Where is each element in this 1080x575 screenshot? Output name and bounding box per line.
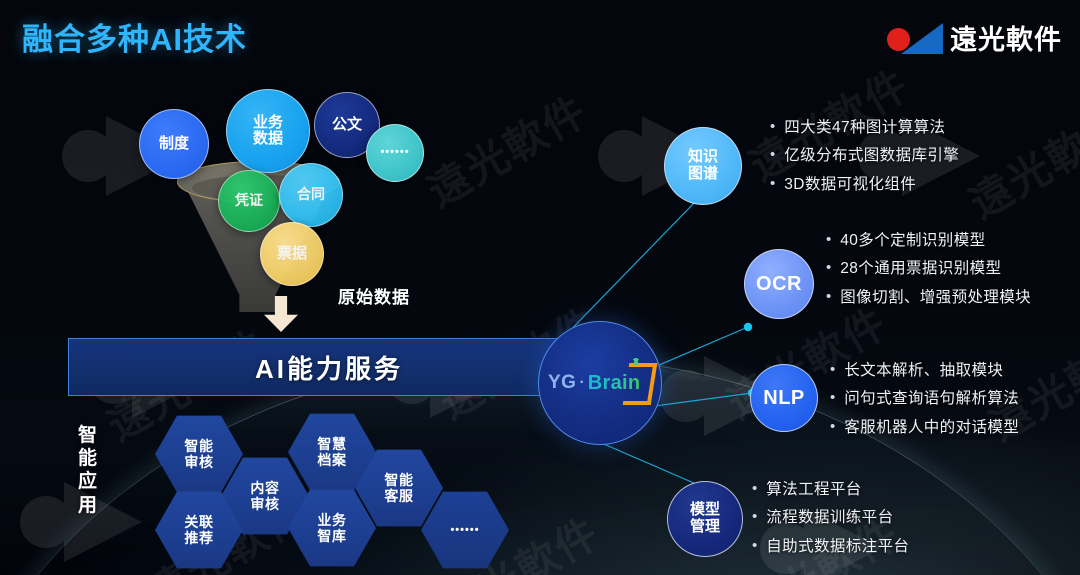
bullet-item: •问句式查询语句解析算法	[830, 389, 1080, 408]
bullet-dot-icon: •	[770, 146, 775, 165]
logo-circle-icon	[887, 28, 910, 51]
bullet-item: •图像切割、增强预处理模块	[826, 288, 1076, 307]
brand-name: 遠光軟件	[950, 18, 1062, 57]
source-bubble-yewushuju[interactable]: 业务 数据	[226, 89, 310, 173]
bullet-item: •四大类47种图计算算法	[770, 118, 1060, 137]
bullet-item: •客服机器人中的对话模型	[830, 418, 1080, 437]
bullet-dot-icon: •	[770, 118, 775, 137]
node-ocr[interactable]: OCR	[744, 249, 814, 319]
bullet-dot-icon: •	[752, 480, 757, 499]
source-bubble-more[interactable]: ••••••	[366, 124, 424, 182]
ai-capability-label: AI能力服务	[255, 349, 403, 386]
source-bubble-label: 合同	[297, 187, 325, 202]
source-bubble-label: 公文	[332, 117, 362, 133]
hex-label: 业务 智库	[317, 512, 346, 544]
smart-apps-hex-grid: 智能 审核 内容 审核 智慧 档案 业务 智库 智能 客服 关联 推荐 ••••…	[155, 412, 515, 567]
source-bubble-label: 制度	[159, 136, 189, 152]
yg-brain-bracket-icon	[623, 363, 658, 405]
hex-label: 智能 客服	[384, 472, 413, 504]
yg-brain-hub[interactable]: YG · Brain	[538, 321, 662, 445]
source-bubble-label: 凭证	[235, 193, 263, 208]
yg-brain-logo: YG · Brain	[548, 366, 652, 400]
source-bubble-label: 业务 数据	[253, 115, 283, 147]
hex-label: 内容 审核	[250, 480, 279, 512]
bullet-text: 客服机器人中的对话模型	[844, 418, 1019, 437]
source-bubble-zhidu[interactable]: 制度	[139, 109, 209, 179]
bullet-item: •自助式数据标注平台	[752, 537, 1012, 556]
raw-data-label: 原始数据	[338, 283, 410, 308]
bullet-item: •亿级分布式图数据库引擎	[770, 146, 1060, 165]
bullet-text: 40多个定制识别模型	[840, 231, 985, 250]
node-model-management[interactable]: 模型 管理	[667, 481, 743, 557]
yuanguang-logo-icon	[887, 21, 943, 55]
bullet-dot-icon: •	[826, 288, 831, 307]
bullet-text: 28个通用票据识别模型	[840, 259, 1001, 278]
hex-label: 智能 审核	[184, 438, 213, 470]
source-bubble-piaoju[interactable]: 票据	[260, 222, 324, 286]
bullet-item: •算法工程平台	[752, 480, 1012, 499]
node-knowledge-graph[interactable]: 知识 图谱	[664, 127, 742, 205]
hex-label: 关联 推荐	[184, 514, 213, 546]
bullet-text: 流程数据训练平台	[766, 508, 893, 527]
slide-canvas: 遠光軟件 遠光軟件 遠光軟件 遠光軟件 遠光軟件 遠光軟件 遠光軟件 遠光軟件 …	[0, 0, 1080, 575]
bullet-item: •3D数据可视化组件	[770, 175, 1060, 194]
bullet-text: 算法工程平台	[766, 480, 861, 499]
source-bubble-hetong[interactable]: 合同	[279, 163, 343, 227]
bullet-dot-icon: •	[826, 259, 831, 278]
node-label: 模型 管理	[690, 502, 720, 536]
yg-brain-separator: ·	[579, 374, 584, 392]
node-label: 知识 图谱	[688, 149, 718, 183]
yg-brain-yg-text: YG	[548, 372, 576, 394]
bullet-dot-icon: •	[830, 418, 835, 437]
bullet-text: 3D数据可视化组件	[784, 175, 916, 194]
bullet-dot-icon: •	[752, 508, 757, 527]
bullet-item: •流程数据训练平台	[752, 508, 1012, 527]
hex-label: ••••••	[450, 524, 479, 537]
hex-label: 智慧 档案	[317, 436, 346, 468]
bullet-text: 自助式数据标注平台	[766, 537, 909, 556]
bullets-ocr: •40多个定制识别模型 •28个通用票据识别模型 •图像切割、增强预处理模块	[826, 231, 1076, 316]
source-bubble-label: ••••••	[380, 147, 409, 159]
bullet-text: 亿级分布式图数据库引擎	[784, 146, 959, 165]
bullet-dot-icon: •	[752, 537, 757, 556]
bullet-text: 图像切割、增强预处理模块	[840, 288, 1031, 307]
bullet-dot-icon: •	[830, 361, 835, 380]
bullets-nlp: •长文本解析、抽取模块 •问句式查询语句解析算法 •客服机器人中的对话模型	[830, 361, 1080, 446]
bullet-item: •40多个定制识别模型	[826, 231, 1076, 250]
bullet-text: 四大类47种图计算算法	[784, 118, 945, 137]
bullet-text: 长文本解析、抽取模块	[844, 361, 1003, 380]
source-bubble-pingzheng[interactable]: 凭证	[218, 170, 280, 232]
bullet-item: •长文本解析、抽取模块	[830, 361, 1080, 380]
bullet-dot-icon: •	[770, 175, 775, 194]
source-bubble-label: 票据	[277, 246, 307, 262]
ai-capability-bar[interactable]: AI能力服务	[68, 338, 590, 396]
bullet-dot-icon: •	[830, 389, 835, 408]
yg-brain-spark-icon	[630, 358, 642, 368]
bullet-text: 问句式查询语句解析算法	[844, 389, 1019, 408]
bullet-item: •28个通用票据识别模型	[826, 259, 1076, 278]
smart-apps-section-label: 智能应用	[78, 424, 104, 517]
node-label: NLP	[763, 387, 805, 409]
bullet-dot-icon: •	[826, 231, 831, 250]
node-label: OCR	[756, 273, 802, 295]
page-title: 融合多种AI技术	[22, 14, 247, 59]
bullets-knowledge-graph: •四大类47种图计算算法 •亿级分布式图数据库引擎 •3D数据可视化组件	[770, 118, 1060, 203]
bullets-model-management: •算法工程平台 •流程数据训练平台 •自助式数据标注平台	[752, 480, 1012, 565]
node-nlp[interactable]: NLP	[750, 364, 818, 432]
brand-logo: 遠光軟件	[887, 18, 1062, 57]
